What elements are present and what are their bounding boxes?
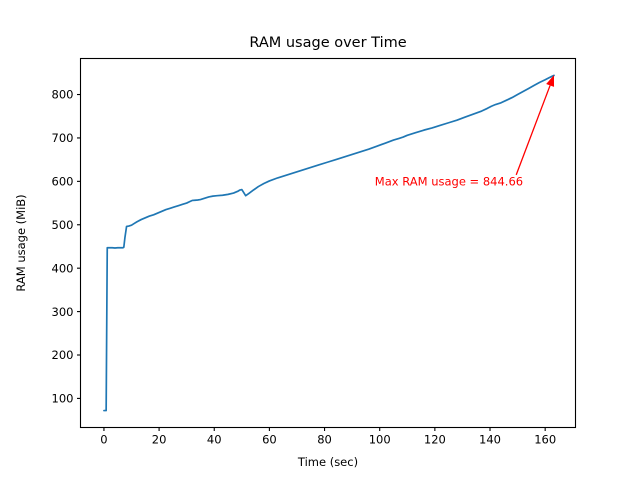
y-tick-label: 300 [52, 305, 74, 319]
max-ram-annotation-label: Max RAM usage = 844.66 [375, 175, 523, 189]
x-tick-label: 100 [369, 433, 391, 447]
x-tick-label: 160 [534, 433, 556, 447]
y-axis-label: RAM usage (MiB) [14, 194, 28, 291]
figure-background [0, 0, 640, 480]
x-tick-label: 80 [317, 433, 332, 447]
y-tick-label: 100 [52, 392, 74, 406]
y-tick-label: 700 [52, 131, 74, 145]
y-tick-label: 500 [52, 218, 74, 232]
y-tick-label: 200 [52, 348, 74, 362]
x-axis-label: Time (sec) [297, 455, 358, 469]
matplotlib-figure: RAM usage over Time 10020030040050060070… [0, 0, 640, 480]
y-tick-label: 400 [52, 261, 74, 275]
x-tick-label: 120 [424, 433, 446, 447]
x-tick-label: 60 [262, 433, 277, 447]
chart-title: RAM usage over Time [249, 35, 406, 51]
chart-canvas: RAM usage over Time 10020030040050060070… [0, 0, 640, 480]
x-tick-label: 40 [207, 433, 222, 447]
y-tick-label: 800 [52, 88, 74, 102]
x-tick-label: 140 [479, 433, 501, 447]
x-tick-label: 20 [152, 433, 167, 447]
y-tick-label: 600 [52, 175, 74, 189]
x-tick-label: 0 [100, 433, 107, 447]
